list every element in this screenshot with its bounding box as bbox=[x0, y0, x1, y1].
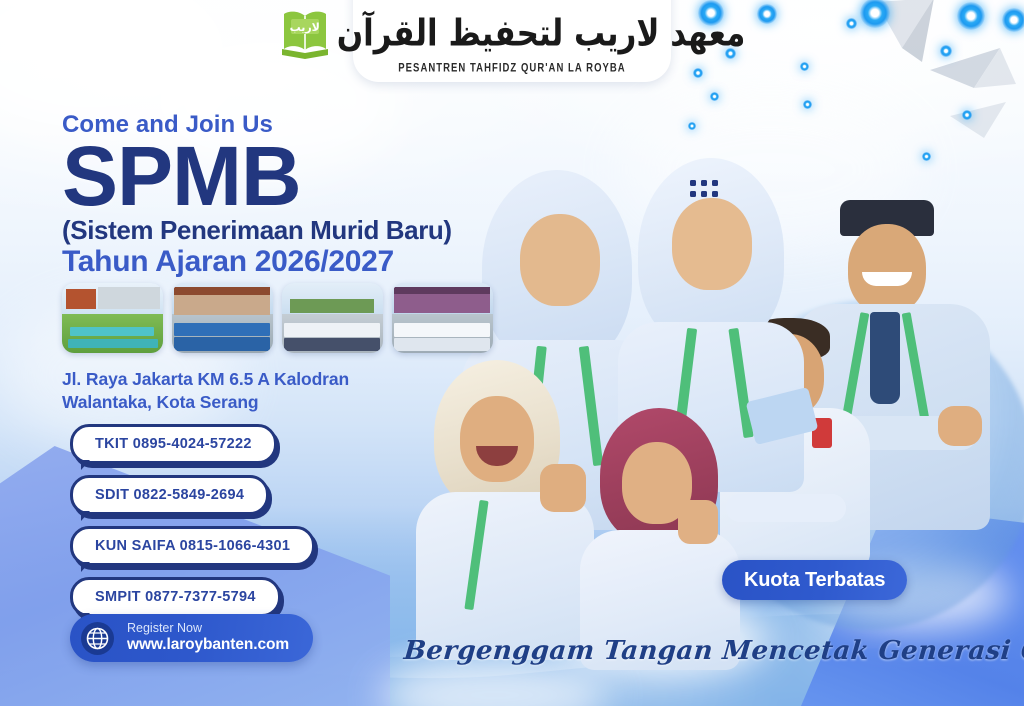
glow-dot bbox=[710, 92, 719, 101]
peace-sign-hand bbox=[678, 500, 718, 544]
contact-pill-tkit[interactable]: TKIT 0895-4024-57222 bbox=[70, 424, 277, 464]
glow-dot bbox=[693, 68, 703, 78]
face bbox=[622, 442, 692, 524]
address-line-2: Walantaka, Kota Serang bbox=[62, 391, 349, 414]
face bbox=[754, 334, 824, 416]
uniform-shirt bbox=[794, 304, 990, 530]
peci-cap bbox=[840, 200, 934, 236]
name-tag bbox=[812, 418, 832, 448]
contact-text: SDIT 0822-5849-2694 bbox=[95, 487, 244, 503]
thumbnail-playground-activity[interactable] bbox=[62, 283, 163, 353]
glow-dot bbox=[962, 110, 972, 120]
uniform-shirt bbox=[462, 340, 656, 530]
corner-wedge-right bbox=[784, 506, 1024, 706]
address-line-1: Jl. Raya Jakarta KM 6.5 A Kalodran bbox=[62, 368, 349, 391]
paper-plane-icon bbox=[948, 96, 1024, 152]
lanyard bbox=[464, 500, 488, 610]
paper-plane-icon bbox=[930, 44, 1024, 104]
smile bbox=[862, 272, 912, 286]
contact-text: SMPIT 0877-7377-5794 bbox=[95, 589, 256, 605]
school-address: Jl. Raya Jakarta KM 6.5 A Kalodran Walan… bbox=[62, 368, 349, 414]
hijab bbox=[434, 360, 560, 510]
contact-text: KUN SAIFA 0815-1066-4301 bbox=[95, 538, 290, 554]
register-button[interactable]: Register Now www.laroybanten.com bbox=[70, 614, 313, 662]
headline-academic-year: Tahun Ajaran 2026/2027 bbox=[62, 245, 502, 279]
logo-arabic-calligraphy: معهد لاريب لتحفيظ القرآن bbox=[337, 16, 746, 53]
paper-plane-icon bbox=[872, 0, 952, 66]
face bbox=[672, 198, 752, 290]
register-text: Register Now www.laroybanten.com bbox=[127, 621, 289, 654]
open-mouth bbox=[476, 446, 518, 466]
glow-dot bbox=[688, 122, 696, 130]
globe-icon bbox=[81, 622, 114, 655]
thumbnail-outdoor-ceremony[interactable] bbox=[282, 283, 383, 353]
face bbox=[460, 396, 534, 482]
logo-subtitle: PESANTREN TAHFIDZ QUR'AN LA ROYBA bbox=[398, 62, 625, 76]
glow-dot bbox=[957, 2, 985, 30]
necktie bbox=[870, 312, 900, 404]
glow-dot bbox=[757, 4, 777, 24]
spmb-poster: لاريب معهد لاريب لتحفيظ القرآن PESANTREN… bbox=[0, 0, 1024, 706]
book bbox=[746, 387, 819, 445]
student-figure-girl-right bbox=[618, 158, 808, 488]
hair bbox=[748, 318, 830, 360]
thumbnail-flag-ceremony[interactable] bbox=[392, 283, 493, 353]
uniform-shirt bbox=[416, 492, 594, 660]
hand bbox=[938, 406, 982, 446]
contact-list: TKIT 0895-4024-57222 SDIT 0822-5849-2694… bbox=[70, 424, 315, 628]
crossed-arms bbox=[828, 416, 978, 450]
glow-dot bbox=[860, 0, 890, 28]
student-figure-teen-boy bbox=[788, 200, 998, 530]
logo-row: لاريب معهد لاريب لتحفيظ القرآن bbox=[279, 6, 746, 62]
logo-badge-arabic: لاريب bbox=[279, 21, 331, 34]
lanyard bbox=[840, 312, 870, 432]
contact-text: TKIT 0895-4024-57222 bbox=[95, 436, 252, 452]
crossed-arms bbox=[726, 494, 846, 522]
raised-fist bbox=[540, 464, 586, 512]
hijab bbox=[482, 170, 632, 366]
face bbox=[520, 214, 600, 306]
student-figure-cheering-girl bbox=[416, 360, 596, 660]
headline-block: Come and Join Us SPMB (Sistem Penerimaan… bbox=[62, 112, 502, 279]
register-website: www.laroybanten.com bbox=[127, 636, 289, 654]
uniform-shirt bbox=[618, 322, 804, 492]
quota-badge: Kuota Terbatas bbox=[722, 560, 907, 600]
lanyard bbox=[728, 328, 753, 438]
school-logo-card: لاريب معهد لاريب لتحفيظ القرآن PESANTREN… bbox=[353, 0, 671, 82]
face bbox=[848, 224, 926, 314]
glow-dot bbox=[1002, 8, 1024, 32]
register-label: Register Now bbox=[127, 621, 289, 636]
student-figure-young-boy bbox=[720, 318, 870, 568]
headline-title: SPMB bbox=[62, 140, 502, 214]
lanyard bbox=[902, 312, 932, 432]
uniform-shirt bbox=[720, 408, 870, 568]
contact-pill-sdit[interactable]: SDIT 0822-5849-2694 bbox=[70, 475, 269, 515]
glow-dot bbox=[922, 152, 931, 161]
contact-pill-smpit[interactable]: SMPIT 0877-7377-5794 bbox=[70, 577, 281, 617]
open-book-icon: لاريب bbox=[279, 9, 331, 59]
thumbnail-school-assembly[interactable] bbox=[172, 283, 273, 353]
glow-dot bbox=[800, 62, 809, 71]
cloud-decoration bbox=[380, 660, 610, 706]
glow-dot bbox=[803, 100, 812, 109]
headline-expansion: (Sistem Penerimaan Murid Baru) bbox=[62, 216, 502, 245]
hijab bbox=[600, 408, 718, 544]
contact-pill-kun-saifa[interactable]: KUN SAIFA 0815-1066-4301 bbox=[70, 526, 315, 566]
tagline: Bergenggam Tangan Mencetak Generasi Qur'… bbox=[403, 636, 1024, 666]
student-figure-small-girl bbox=[580, 408, 740, 668]
quota-badge-text: Kuota Terbatas bbox=[744, 569, 885, 592]
photo-thumbnail-strip bbox=[62, 283, 493, 353]
glow-dot bbox=[846, 18, 857, 29]
lanyard bbox=[523, 346, 547, 476]
lanyard bbox=[579, 346, 604, 466]
dot-grid-icon bbox=[690, 180, 718, 197]
lanyard bbox=[673, 328, 697, 446]
cloud-decoration bbox=[620, 90, 920, 250]
glow-dot bbox=[940, 45, 952, 57]
